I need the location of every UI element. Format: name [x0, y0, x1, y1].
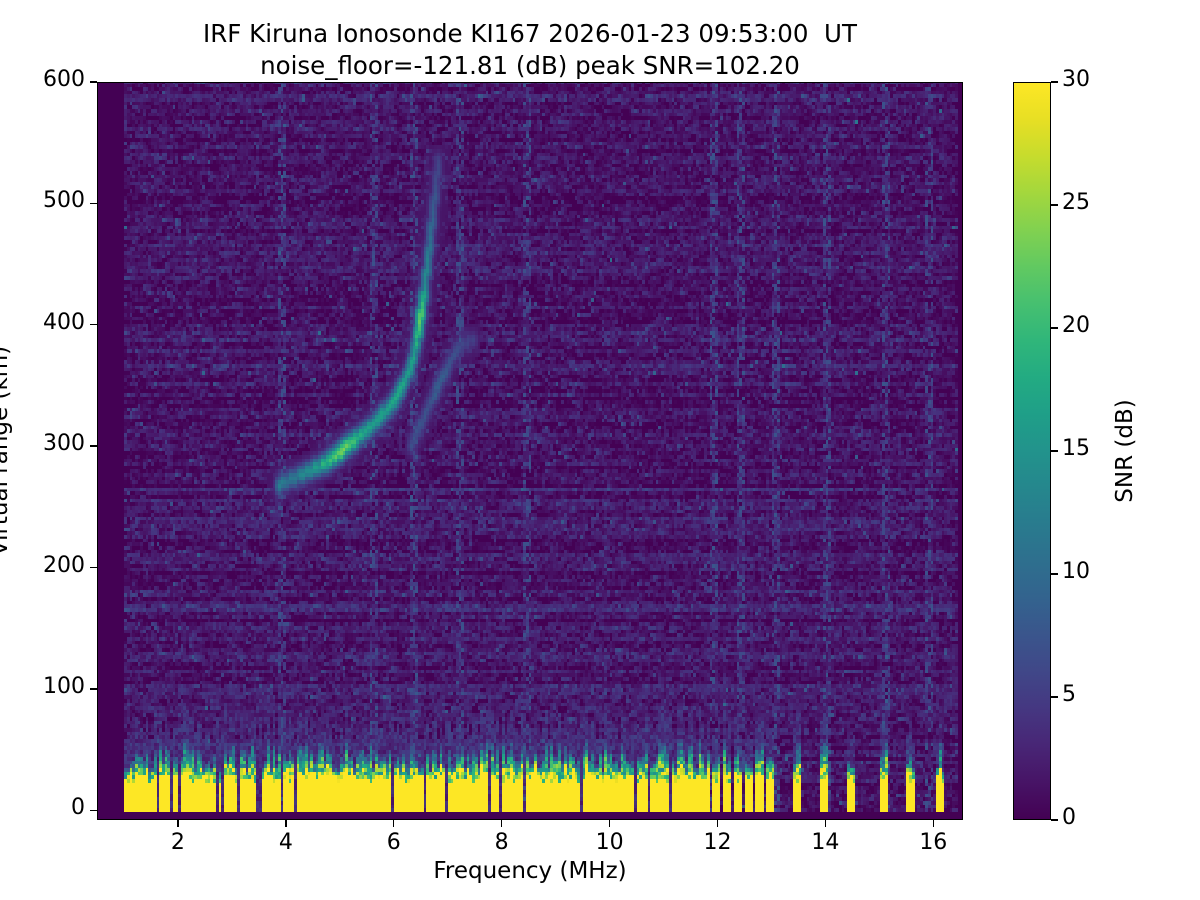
- title-line-2: noise_floor=-121.81 (dB) peak SNR=102.20: [0, 50, 1060, 82]
- x-axis-title: Frequency (MHz): [433, 858, 626, 884]
- ionogram-figure: IRF Kiruna Ionosonde KI167 2026-01-23 09…: [0, 0, 1200, 900]
- y-tick-label: 600: [43, 67, 85, 92]
- colorbar-tick-mark: [1051, 81, 1058, 82]
- title-line-1: IRF Kiruna Ionosonde KI167 2026-01-23 09…: [0, 18, 1060, 50]
- x-tick-label: 12: [703, 830, 731, 855]
- y-tick-mark: [90, 445, 97, 446]
- colorbar-gradient: [1014, 83, 1050, 819]
- figure-title: IRF Kiruna Ionosonde KI167 2026-01-23 09…: [0, 18, 1060, 82]
- x-tick-mark: [501, 820, 502, 827]
- x-tick-mark: [717, 820, 718, 827]
- x-tick-mark: [177, 820, 178, 827]
- y-tick-label: 500: [43, 188, 85, 213]
- y-tick-label: 0: [71, 795, 85, 820]
- colorbar-tick-mark: [1051, 573, 1058, 574]
- y-tick-label: 300: [43, 431, 85, 456]
- ionogram-heatmap: [98, 83, 963, 820]
- colorbar-tick-label: 0: [1062, 805, 1076, 830]
- y-tick-mark: [90, 688, 97, 689]
- x-tick-label: 14: [811, 830, 839, 855]
- y-tick-mark: [90, 203, 97, 204]
- x-tick-label: 6: [387, 830, 401, 855]
- colorbar-tick-label: 10: [1062, 559, 1090, 584]
- x-tick-label: 8: [495, 830, 509, 855]
- x-tick-label: 2: [171, 830, 185, 855]
- y-tick-mark: [90, 810, 97, 811]
- colorbar-tick-label: 15: [1062, 436, 1090, 461]
- x-tick-mark: [609, 820, 610, 827]
- colorbar-tick-label: 25: [1062, 190, 1090, 215]
- colorbar-tick-label: 20: [1062, 313, 1090, 338]
- colorbar-tick-mark: [1051, 450, 1058, 451]
- colorbar-tick-label: 30: [1062, 67, 1090, 92]
- y-tick-mark: [90, 324, 97, 325]
- x-tick-mark: [393, 820, 394, 827]
- colorbar-tick-mark: [1051, 204, 1058, 205]
- y-tick-mark: [90, 81, 97, 82]
- colorbar-title: SNR (dB): [1112, 399, 1138, 502]
- colorbar-tick-mark: [1051, 696, 1058, 697]
- colorbar-tick-label: 5: [1062, 682, 1076, 707]
- colorbar: [1013, 82, 1051, 820]
- x-tick-mark: [285, 820, 286, 827]
- x-tick-mark: [933, 820, 934, 827]
- x-tick-label: 16: [919, 830, 947, 855]
- colorbar-tick-mark: [1051, 819, 1058, 820]
- x-tick-label: 4: [279, 830, 293, 855]
- y-tick-mark: [90, 567, 97, 568]
- x-tick-mark: [825, 820, 826, 827]
- ionogram-plot-area: [97, 82, 963, 820]
- x-tick-label: 10: [596, 830, 624, 855]
- y-axis-title: Virtual range (km): [0, 346, 13, 556]
- y-tick-label: 200: [43, 553, 85, 578]
- colorbar-tick-mark: [1051, 327, 1058, 328]
- y-tick-label: 100: [43, 674, 85, 699]
- y-tick-label: 400: [43, 310, 85, 335]
